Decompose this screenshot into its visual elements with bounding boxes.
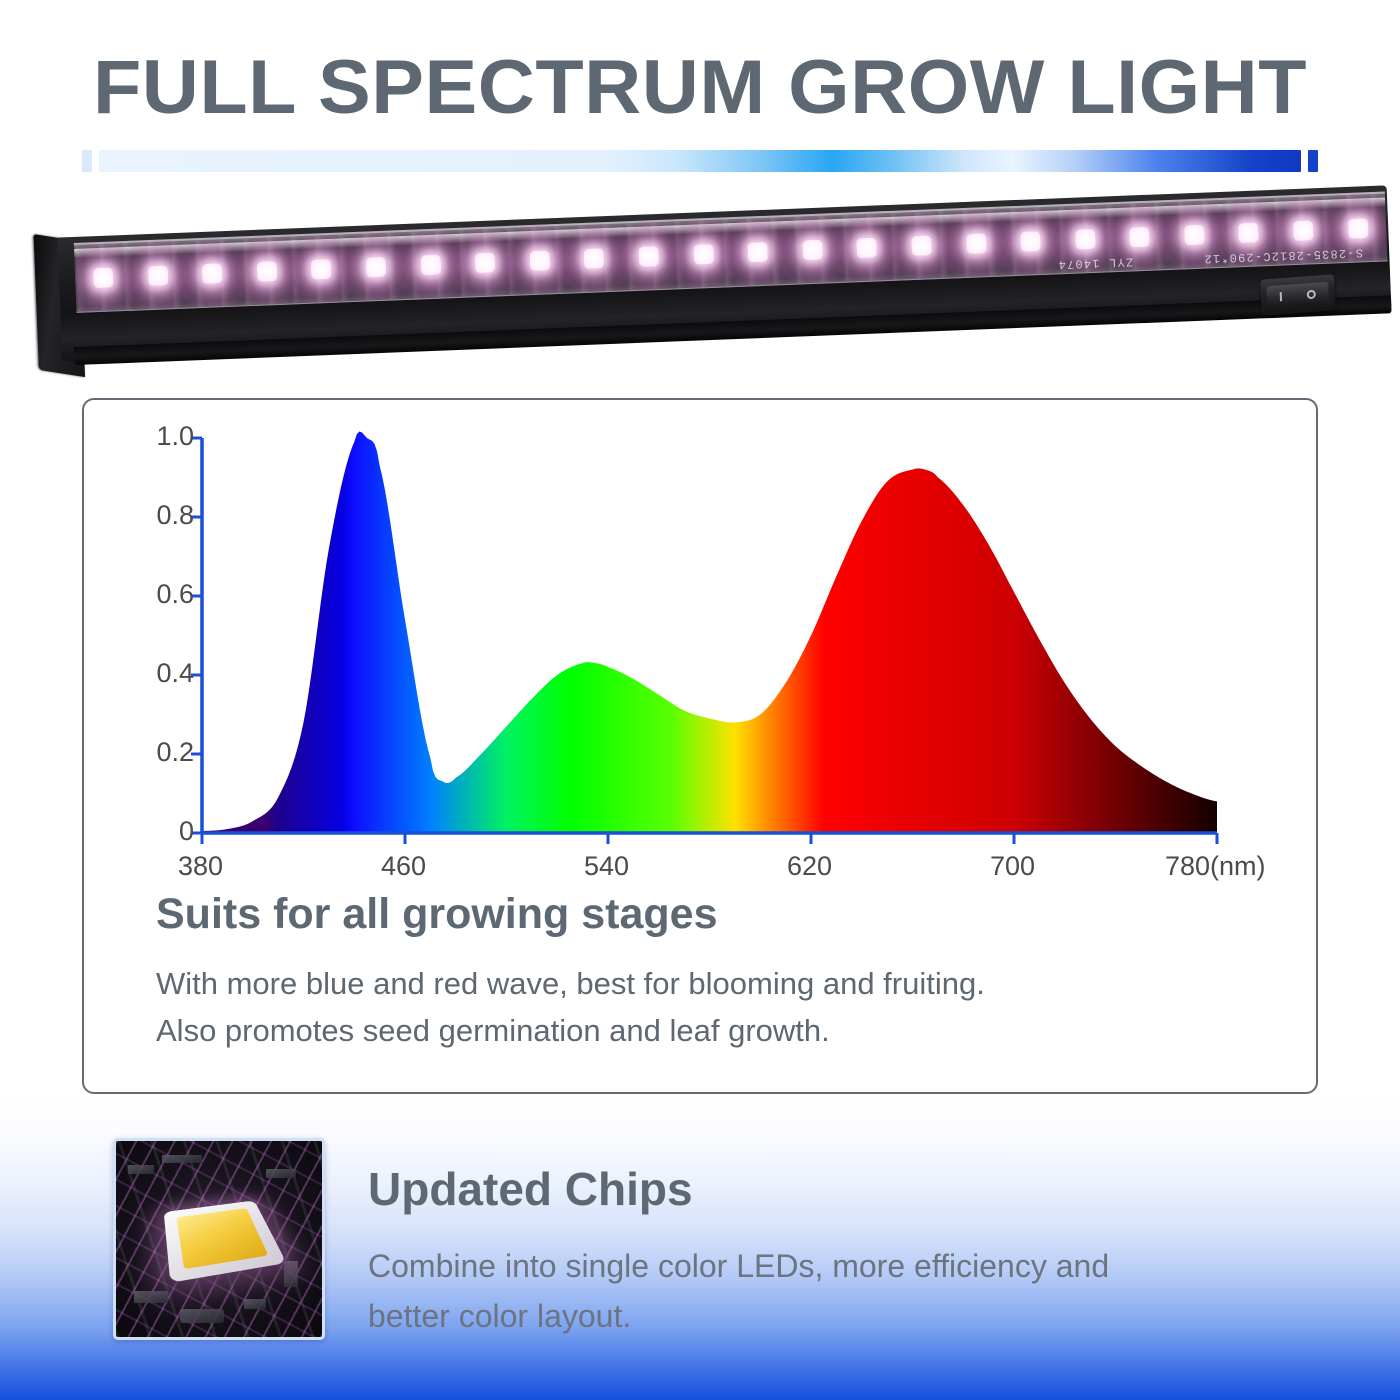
chips-body-line-2: better color layout. [368,1292,1308,1342]
spectrum-body-line-2: Also promotes seed germination and leaf … [156,1007,1276,1054]
power-rocker-switch[interactable] [1260,274,1335,315]
led-bar-assembly: ZYL 14074 S-2835-2812C-290*12 [19,169,1400,403]
x-axis-tick-label: 540 [584,851,629,882]
y-axis-tick-label: 0.2 [124,737,194,768]
chips-body-text: Combine into single color LEDs, more eff… [368,1242,1308,1341]
spectrum-curve-area [202,431,1217,833]
smd-component [180,1309,224,1323]
updated-chips-section: Updated Chips Combine into single color … [0,1094,1400,1400]
x-axis-tick-label: 780(nm) [1165,851,1266,882]
smd-component [134,1291,168,1303]
y-axis-tick-labels: 00.20.40.60.81.0 [112,428,194,873]
spectrum-card: 00.20.40.60.81.0 380460540620700780(nm) … [82,398,1318,1094]
divider-cap-left [82,150,92,172]
y-axis-tick-label: 0.8 [124,500,194,531]
x-axis-tick-label: 460 [381,851,426,882]
y-axis-tick-label: 0.6 [124,579,194,610]
divider-gradient-bar [99,150,1301,172]
x-axis-tick-label: 620 [787,851,832,882]
spectrum-body-line-1: With more blue and red wave, best for bl… [156,960,1276,1007]
x-axis-tick-label: 380 [178,851,223,882]
led-grow-light-bar-photo: ZYL 14074 S-2835-2812C-290*12 [22,196,1400,376]
smd-component [128,1165,154,1174]
smd-component [266,1169,296,1178]
x-axis-tick-label: 700 [990,851,1035,882]
spectrum-chart-svg [112,428,1272,873]
header: FULL SPECTRUM GROW LIGHT [0,0,1400,190]
smd-component [244,1299,266,1309]
x-axis-tick-labels: 380460540620700780(nm) [112,428,1272,468]
spectrum-chart: 00.20.40.60.81.0 380460540620700780(nm) [112,428,1272,873]
divider-cap-right [1308,150,1318,172]
spectrum-heading: Suits for all growing stages [156,890,1256,939]
chips-body-line-1: Combine into single color LEDs, more eff… [368,1242,1308,1292]
smd-component [162,1155,202,1163]
page-title: FULL SPECTRUM GROW LIGHT [0,44,1400,131]
spectrum-body-text: With more blue and red wave, best for bl… [156,960,1276,1054]
y-axis-tick-label: 0 [124,816,194,847]
switch-on-mark-icon [1279,292,1281,301]
led-phosphor-surface [177,1208,269,1269]
smd-component [284,1261,298,1287]
led-chip-on-circuit-board-photo [113,1138,325,1340]
rocker-switch-paddle[interactable] [1266,282,1329,309]
switch-off-mark-icon [1307,289,1316,299]
pcb-print-code: ZYL 14074 [1058,254,1134,271]
y-axis-tick-label: 0.4 [124,658,194,689]
divider [82,150,1318,172]
chips-heading: Updated Chips [368,1162,693,1216]
